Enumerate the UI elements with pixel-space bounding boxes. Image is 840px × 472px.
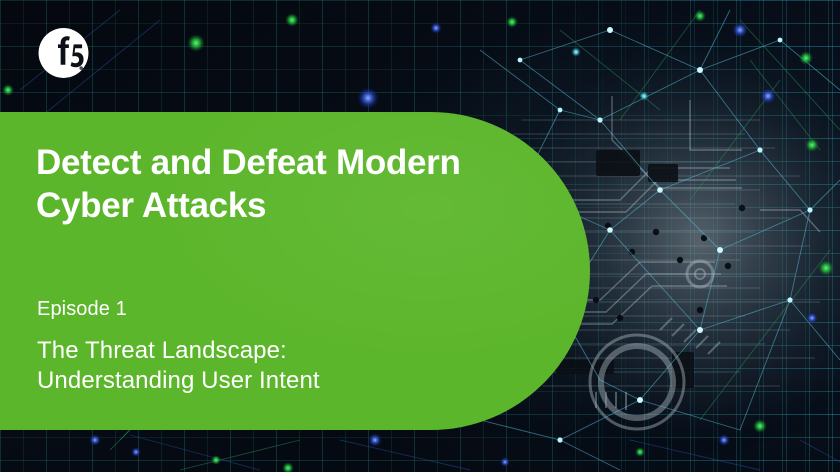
subtitle-line-1: The Threat Landscape:: [37, 336, 487, 366]
slide-canvas: Detect and Defeat Modern Cyber Attacks E…: [0, 0, 840, 472]
subtitle-line-2: Understanding User Intent: [37, 366, 487, 396]
episode-subtitle: The Threat Landscape: Understanding User…: [37, 336, 487, 396]
f5-logo[interactable]: [37, 27, 90, 79]
episode-label: Episode 1: [37, 297, 127, 321]
page-title: Detect and Defeat Modern Cyber Attacks: [36, 141, 556, 227]
